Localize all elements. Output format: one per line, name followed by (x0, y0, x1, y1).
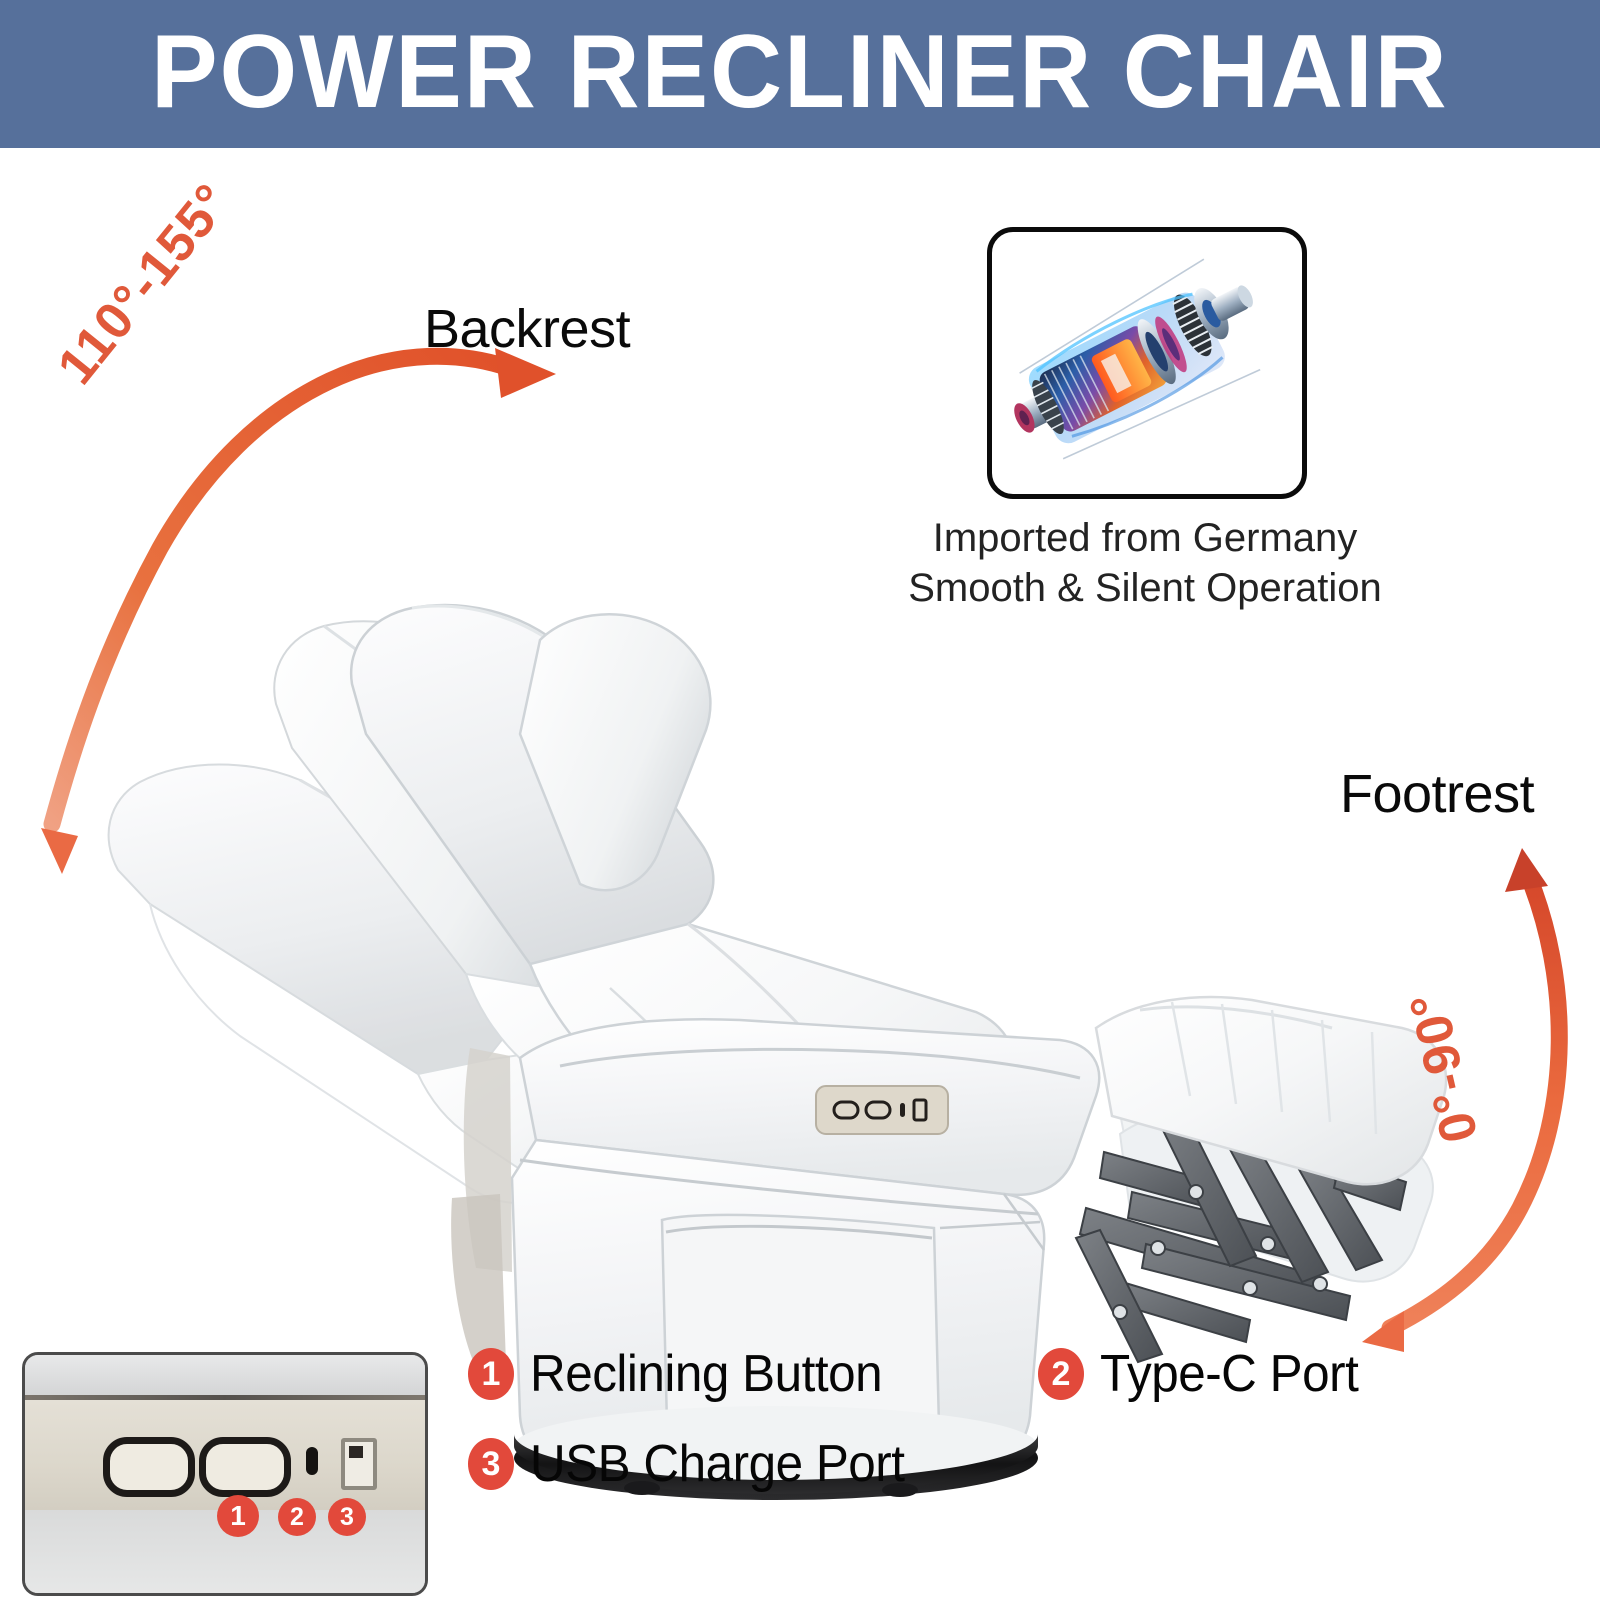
footrest-label: Footrest (1340, 763, 1534, 825)
inset-marker-2: 2 (278, 1498, 316, 1536)
page-title: POWER RECLINER CHAIR (151, 20, 1449, 124)
product-illustration-stage: Backrest Footrest 110°-155° 0°-90° (0, 148, 1600, 1600)
usb-a-port-icon[interactable] (341, 1438, 377, 1490)
legend-row-1: 1 Reclining Button 2 Type-C Port (468, 1344, 1568, 1404)
legend-badge-2: 2 (1038, 1348, 1084, 1400)
motor-caption: Imported from Germany Smooth & Silent Op… (880, 513, 1410, 614)
legend-badge-3: 3 (468, 1438, 514, 1490)
reclining-button-oval-1[interactable] (103, 1437, 195, 1497)
legend: 1 Reclining Button 2 Type-C Port 3 USB C… (468, 1344, 1568, 1524)
legend-label-3: USB Charge Port (530, 1434, 905, 1494)
legend-label-2: Type-C Port (1100, 1344, 1358, 1404)
legend-row-2: 3 USB Charge Port (468, 1434, 1568, 1494)
motor-caption-line-2: Smooth & Silent Operation (880, 563, 1410, 613)
control-panel-inset: 1 2 3 (22, 1352, 428, 1596)
armrest-control-panel[interactable] (816, 1086, 948, 1134)
motor-cutaway-icon (992, 232, 1292, 484)
legend-item-reclining-button: 1 Reclining Button (468, 1344, 1038, 1404)
legend-badge-1: 1 (468, 1348, 514, 1400)
header-banner: POWER RECLINER CHAIR (0, 0, 1600, 148)
inset-marker-1: 1 (217, 1495, 259, 1537)
motor-feature-card (987, 227, 1307, 499)
reclining-button-oval-2[interactable] (199, 1437, 291, 1497)
inset-marker-3: 3 (328, 1498, 366, 1536)
backrest-label: Backrest (424, 298, 630, 360)
legend-label-1: Reclining Button (530, 1344, 882, 1404)
usb-c-port-icon[interactable] (306, 1447, 318, 1475)
legend-item-usb-charge-port: 3 USB Charge Port (468, 1434, 1038, 1494)
inset-upholstery-top (25, 1355, 425, 1395)
motor-caption-line-1: Imported from Germany (880, 513, 1410, 563)
legend-item-type-c-port: 2 Type-C Port (1038, 1344, 1372, 1404)
